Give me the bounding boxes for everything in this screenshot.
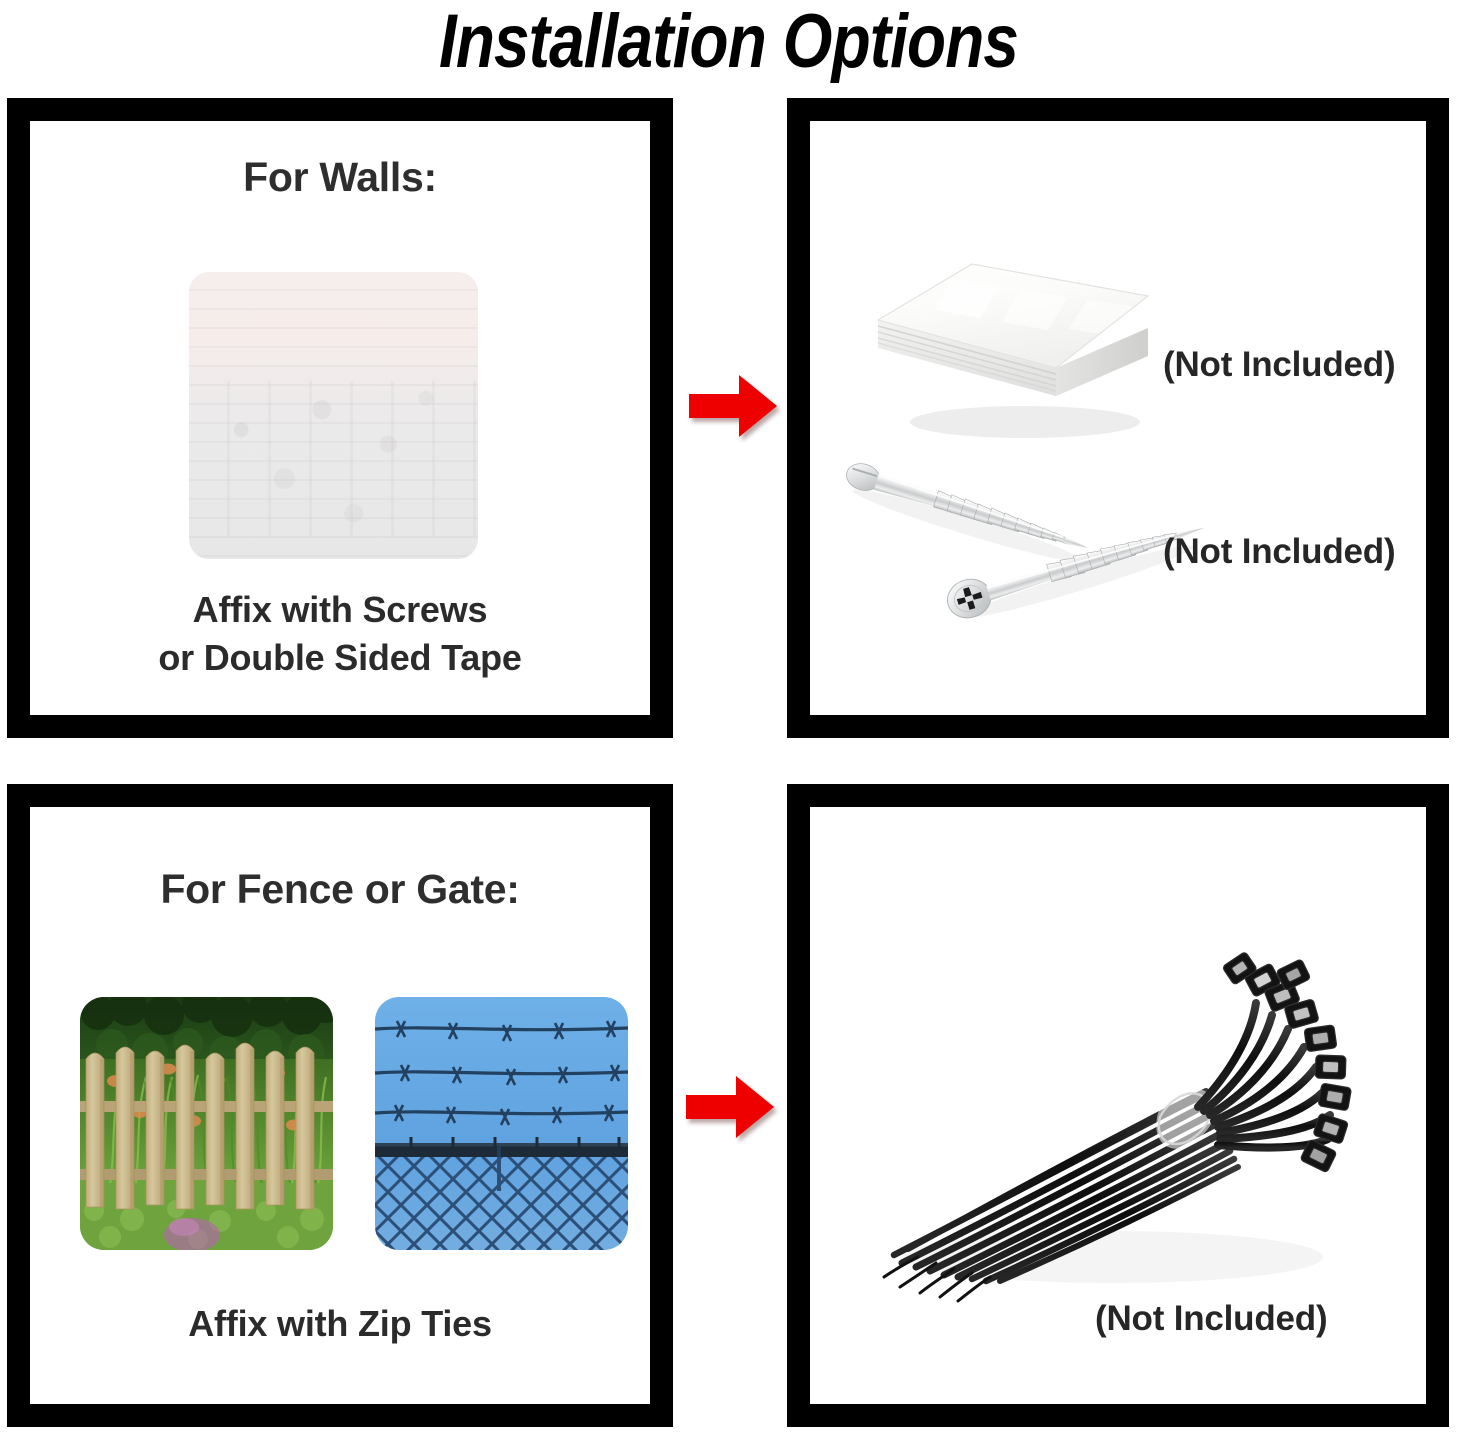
panel-for-walls-caption: Affix with Screws or Double Sided Tape xyxy=(30,586,650,682)
double-sided-tape-stack-image xyxy=(860,236,1170,451)
tape-not-included-label: (Not Included) xyxy=(1163,345,1395,385)
panel-for-fence-or-gate: For Fence or Gate: xyxy=(7,784,673,1427)
panel-for-walls-heading: For Walls: xyxy=(30,153,650,201)
panel-for-walls: For Walls: Affix with Screws or Double S… xyxy=(7,98,673,738)
black-zip-tie-bundle-image xyxy=(858,937,1378,1327)
panel-for-fence-caption: Affix with Zip Ties xyxy=(30,1300,650,1348)
right-arrow-icon-top xyxy=(687,372,779,440)
wooden-picket-fence-photo xyxy=(80,997,333,1250)
panel-for-fence-heading: For Fence or Gate: xyxy=(30,865,650,913)
panel-zip-ties: (Not Included) xyxy=(787,784,1449,1427)
panel-zip-ties-content: (Not Included) xyxy=(810,807,1426,1404)
caption-line-2: or Double Sided Tape xyxy=(30,634,650,682)
screws-not-included-label: (Not Included) xyxy=(1163,532,1395,572)
zip-ties-not-included-label: (Not Included) xyxy=(1095,1299,1327,1339)
brick-texture-speckle xyxy=(189,272,478,559)
chain-link-fence-photo xyxy=(375,997,628,1250)
panel-hardware-content: (Not Included) xyxy=(810,121,1426,715)
right-arrow-icon-bottom xyxy=(684,1073,776,1141)
installation-options-infographic: Installation Options For Walls: Affix wi… xyxy=(0,0,1457,1434)
white-brick-wall-image xyxy=(189,272,478,559)
panel-for-fence-content: For Fence or Gate: xyxy=(30,807,650,1404)
page-title: Installation Options xyxy=(117,0,1341,88)
panel-for-walls-content: For Walls: Affix with Screws or Double S… xyxy=(30,121,650,715)
panel-hardware: (Not Included) xyxy=(787,98,1449,738)
caption-line-1: Affix with Screws xyxy=(30,586,650,634)
